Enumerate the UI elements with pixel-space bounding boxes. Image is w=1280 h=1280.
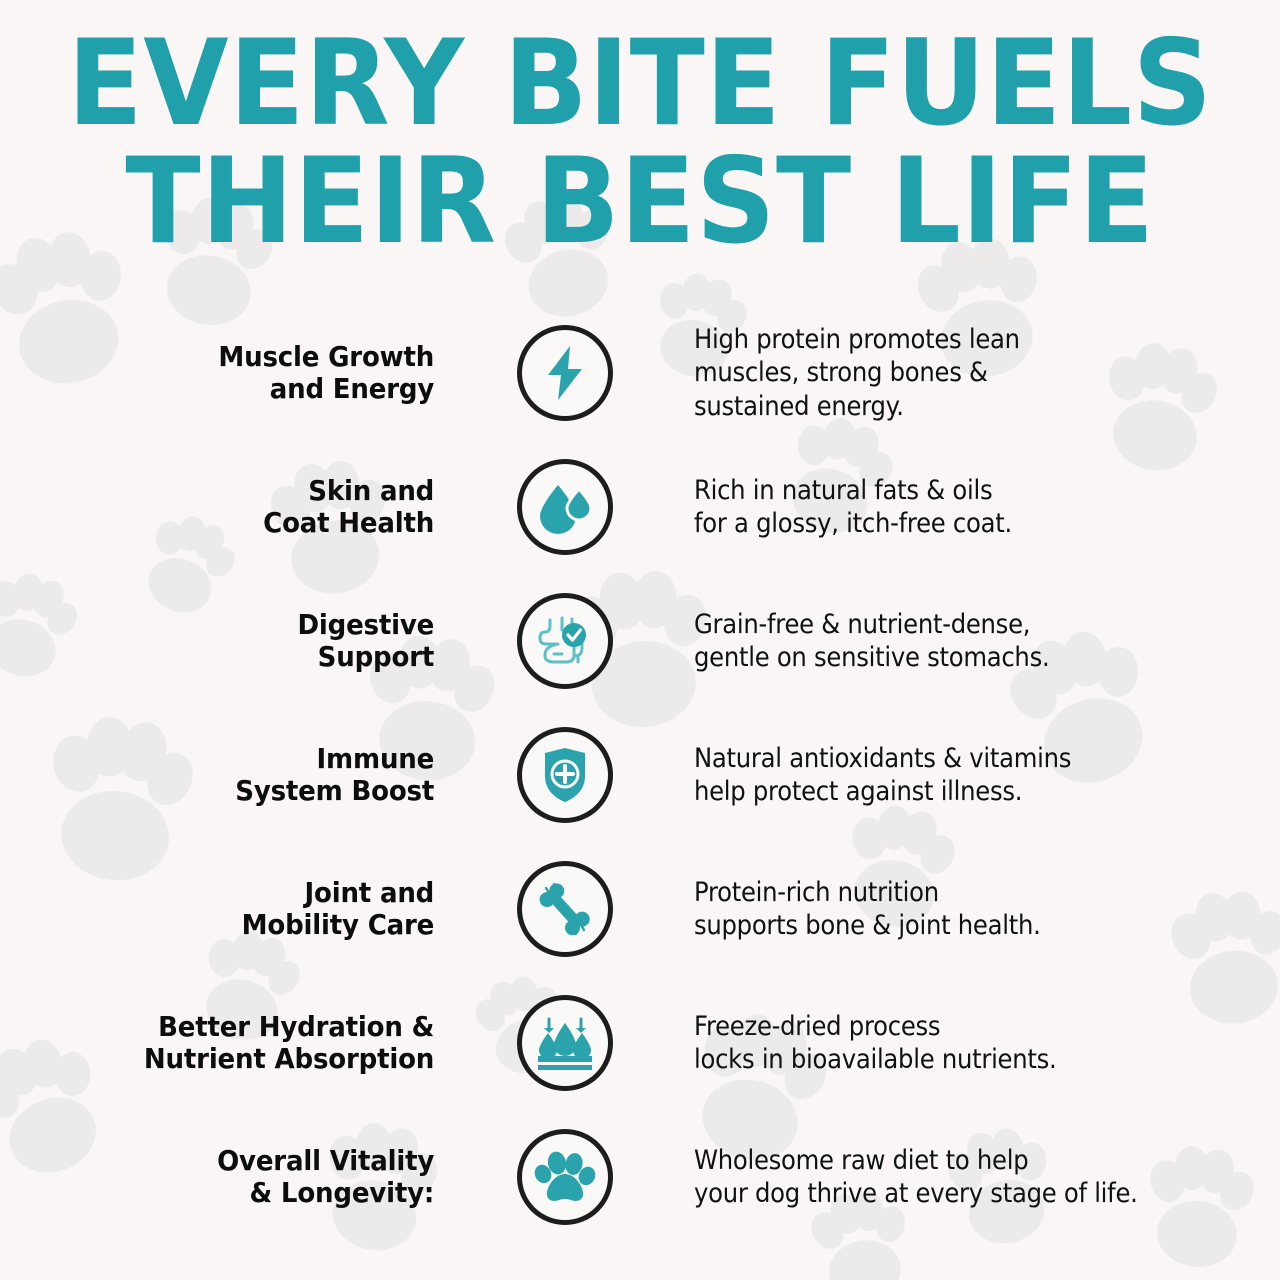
benefit-desc-line-2: help protect against illness. (694, 775, 1216, 808)
benefit-icon-cell (436, 325, 694, 421)
benefit-icon-cell (436, 459, 694, 555)
icon-circle (517, 1129, 613, 1225)
benefit-icon-cell (436, 861, 694, 957)
benefit-row-muscle-growth: Muscle Growth and Energy High protein pr… (0, 306, 1280, 440)
benefit-row-immune-boost: Immune System Boost Natural antioxidants… (0, 708, 1280, 842)
benefit-row-hydration-absorption: Better Hydration & Nutrient Absorption (0, 976, 1280, 1110)
icon-circle (517, 593, 613, 689)
benefit-row-digestive-support: Digestive Support (0, 574, 1280, 708)
benefit-description: Natural antioxidants & vitamins help pro… (694, 742, 1221, 809)
benefit-title: Immune System Boost (31, 743, 436, 807)
benefit-desc-line-2: muscles, strong bones & (694, 356, 1216, 389)
benefit-description: Freeze-dried process locks in bioavailab… (694, 1010, 1221, 1077)
benefit-desc-line-3: sustained energy. (694, 390, 1216, 423)
benefit-desc-line-2: your dog thrive at every stage of life. (694, 1177, 1216, 1210)
benefit-title-line-2: Coat Health (263, 506, 434, 539)
benefit-desc-line-1: Grain-free & nutrient-dense, (694, 608, 1216, 641)
icon-circle (517, 459, 613, 555)
benefit-desc-line-2: for a glossy, itch-free coat. (694, 507, 1216, 540)
paw-print-icon (533, 1146, 597, 1208)
icon-circle (517, 861, 613, 957)
benefit-icon-cell (436, 995, 694, 1091)
benefit-desc-line-1: Freeze-dried process (694, 1010, 1216, 1043)
shield-plus-icon (535, 744, 595, 806)
headline-line-1: EVERY BITE FUELS (0, 26, 1280, 142)
benefit-desc-line-1: High protein promotes lean (694, 323, 1216, 356)
benefit-desc-line-2: supports bone & joint health. (694, 909, 1216, 942)
benefit-title: Digestive Support (31, 609, 436, 673)
icon-circle (517, 995, 613, 1091)
benefit-title: Better Hydration & Nutrient Absorption (31, 1011, 436, 1075)
benefit-title-line-1: Immune (317, 742, 435, 775)
bone-icon (533, 877, 597, 941)
benefit-title: Skin and Coat Health (31, 475, 436, 539)
benefit-title-line-2: and Energy (270, 372, 434, 405)
benefit-desc-line-2: gentle on sensitive stomachs. (694, 641, 1216, 674)
benefit-title-line-1: Better Hydration & (158, 1010, 434, 1043)
benefit-title-line-1: Digestive (297, 608, 434, 641)
benefit-title: Overall Vitality & Longevity: (31, 1145, 436, 1209)
benefit-icon-cell (436, 727, 694, 823)
benefit-desc-line-1: Protein-rich nutrition (694, 876, 1216, 909)
benefits-list: Muscle Growth and Energy High protein pr… (0, 306, 1280, 1244)
benefit-icon-cell (436, 593, 694, 689)
benefit-desc-line-1: Rich in natural fats & oils (694, 474, 1216, 507)
benefit-desc-line-1: Wholesome raw diet to help (694, 1144, 1216, 1177)
absorption-drops-icon (534, 1013, 596, 1073)
benefit-desc-line-1: Natural antioxidants & vitamins (694, 742, 1216, 775)
intestine-check-icon (532, 610, 598, 672)
benefit-title-line-2: Support (318, 640, 434, 673)
page-title: EVERY BITE FUELS THEIR BEST LIFE (0, 26, 1280, 246)
benefit-title-line-1: Joint and (305, 876, 435, 909)
benefit-title: Muscle Growth and Energy (31, 341, 436, 405)
benefit-description: Protein-rich nutrition supports bone & j… (694, 876, 1221, 943)
infographic-page: EVERY BITE FUELS THEIR BEST LIFE Muscle … (0, 0, 1280, 1280)
benefit-title-line-2: Mobility Care (242, 908, 434, 941)
benefit-desc-line-2: locks in bioavailable nutrients. (694, 1043, 1216, 1076)
benefit-description: Wholesome raw diet to help your dog thri… (694, 1144, 1221, 1211)
benefit-icon-cell (436, 1129, 694, 1225)
benefit-row-joint-mobility: Joint and Mobility Care (0, 842, 1280, 976)
benefit-title-line-1: Overall Vitality (217, 1144, 434, 1177)
water-drop-icon (534, 476, 596, 538)
icon-circle (517, 325, 613, 421)
benefit-row-overall-vitality: Overall Vitality & Longevity: Wholesome … (0, 1110, 1280, 1244)
benefit-title-line-2: Nutrient Absorption (144, 1042, 434, 1075)
benefit-title-line-2: System Boost (235, 774, 434, 807)
benefit-title-line-1: Muscle Growth (218, 340, 434, 373)
headline-line-2: THEIR BEST LIFE (0, 144, 1280, 260)
benefit-description: Grain-free & nutrient-dense, gentle on s… (694, 608, 1221, 675)
benefit-title: Joint and Mobility Care (31, 877, 436, 941)
benefit-row-skin-coat: Skin and Coat Health Rich in natural fat… (0, 440, 1280, 574)
lightning-bolt-icon (534, 342, 596, 404)
benefit-description: High protein promotes lean muscles, stro… (694, 323, 1221, 423)
benefit-title-line-2: & Longevity: (250, 1176, 435, 1209)
benefit-title-line-1: Skin and (308, 474, 434, 507)
icon-circle (517, 727, 613, 823)
benefit-description: Rich in natural fats & oils for a glossy… (694, 474, 1221, 541)
